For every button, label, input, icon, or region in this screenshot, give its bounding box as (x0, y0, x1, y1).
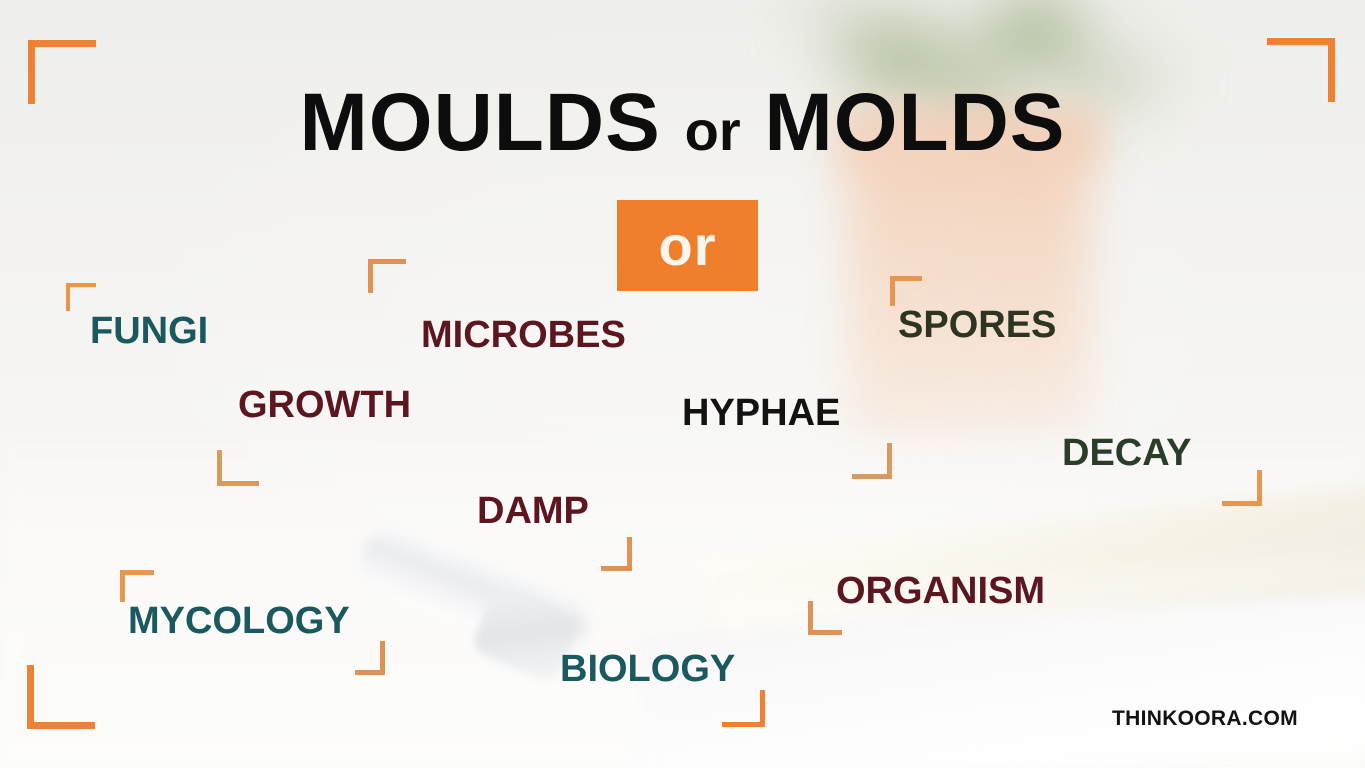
keyword-growth: GROWTH (238, 386, 411, 424)
title-part-one: MOULDS (300, 77, 661, 168)
accent-mycology-low-bracket-icon (355, 641, 385, 675)
accent-mycology-bracket-icon (120, 570, 154, 602)
accent-hyphae-bracket-icon (852, 443, 892, 479)
keyword-decay: DECAY (1062, 434, 1192, 472)
accent-biology-bracket-icon (722, 690, 765, 727)
infographic-canvas: MOULDS or MOLDS or FUNGIMICROBESSPORESGR… (0, 0, 1365, 768)
or-badge-label: or (659, 218, 717, 274)
accent-spores-bracket-icon (890, 276, 922, 306)
keyword-mycology: MYCOLOGY (128, 602, 350, 640)
accent-fungi-bracket-icon (66, 283, 96, 311)
keyword-spores: SPORES (898, 306, 1056, 344)
accent-growth-bracket-icon (217, 450, 259, 486)
watermark: THINKOORA.COM (1112, 707, 1298, 731)
keyword-hyphae: HYPHAE (682, 394, 840, 432)
accent-damp-bracket-icon (601, 537, 632, 571)
corner-bottom-left-bracket-icon (27, 665, 95, 729)
keyword-damp: DAMP (477, 492, 589, 530)
keyword-organism: ORGANISM (836, 572, 1045, 610)
accent-decay-bracket-icon (1222, 470, 1262, 506)
or-badge: or (617, 200, 758, 291)
keyword-biology: BIOLOGY (560, 650, 735, 688)
title-connector: or (685, 99, 741, 162)
title-part-two: MOLDS (764, 77, 1065, 168)
keyword-fungi: FUNGI (90, 312, 208, 350)
keyword-microbes: MICROBES (421, 316, 626, 354)
accent-microbes-bracket-icon (368, 259, 406, 293)
page-title: MOULDS or MOLDS (0, 76, 1365, 170)
